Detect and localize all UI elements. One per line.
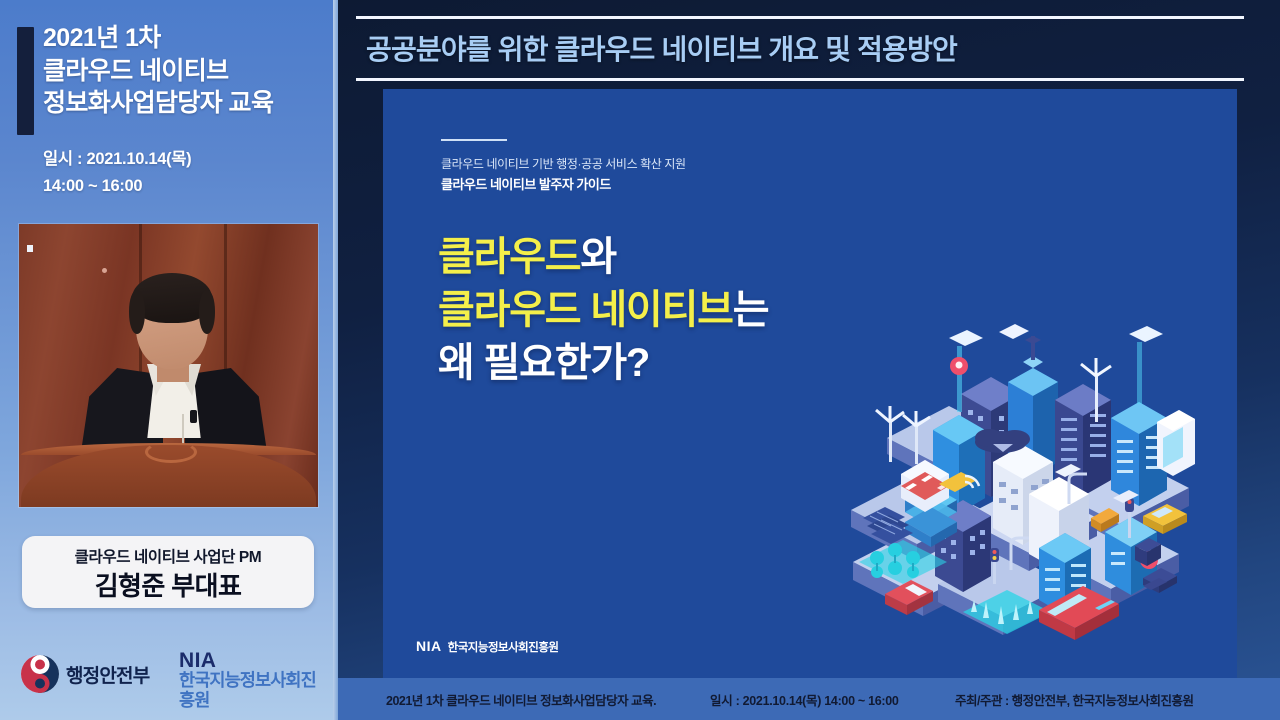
- presenter-hair-side-right: [199, 290, 215, 334]
- nia-label: 한국지능정보사회진흥원: [179, 671, 328, 710]
- headline-line-1-yellow: 클라우드: [438, 235, 580, 279]
- headline-line-1-white: 와: [580, 235, 616, 279]
- slide-stage: 공공분야를 위한 클라우드 네이티브 개요 및 적용방안 클라우드 네이티브 기…: [338, 0, 1280, 720]
- presenter-video[interactable]: [19, 224, 318, 507]
- bottom-bar-datetime: 일시 : 2021.10.14(목) 14:00 ~ 16:00: [710, 690, 899, 709]
- cloud-floating: [999, 324, 1029, 339]
- header-rule-bottom: [356, 78, 1244, 81]
- nia-logo: NIA 한국지능정보사회진흥원: [179, 650, 328, 711]
- event-title-block: 2021년 1차 클라우드 네이티브 정보화사업담당자 교육: [17, 22, 327, 140]
- event-time: 14:00 ~ 16:00: [43, 173, 303, 200]
- phone-kiosk: [1157, 322, 1195, 476]
- presenter-badge: 클라우드 네이티브 사업단 PM 김형준 부대표: [22, 536, 314, 608]
- sponsor-logos: 행정안전부 NIA 한국지능정보사회진흥원: [18, 648, 328, 704]
- headline-line-2-yellow: 클라우드 네이티브: [438, 288, 733, 332]
- podium-scroll-ornament: [145, 441, 197, 463]
- event-datetime: 일시 : 2021.10.14(목) 14:00 ~ 16:00: [43, 146, 303, 199]
- title-accent-bar: [17, 27, 34, 135]
- headline-line-2-white: 는: [733, 288, 769, 332]
- presenter-hair-side-left: [129, 290, 145, 334]
- bottom-bar-event: 2021년 1차 클라우드 네이티브 정보화사업담당자 교육.: [386, 690, 656, 709]
- slide-divider-rule: [441, 139, 507, 141]
- slide-nia-mark: NIA: [416, 638, 442, 654]
- broadcast-screen: 2021년 1차 클라우드 네이티브 정보화사업담당자 교육 일시 : 2021…: [0, 0, 1280, 720]
- bottom-info-bar: 2021년 1차 클라우드 네이티브 정보화사업담당자 교육. 일시 : 202…: [338, 678, 1280, 720]
- taegeuk-icon: [20, 654, 60, 694]
- bottom-bar-organizer: 주최/주관 : 행정안전부, 한국지능정보사회진흥원: [955, 690, 1194, 709]
- headline-line-3-white: 왜 필요한가?: [438, 341, 649, 385]
- presenter-name: 김형준 부대표: [22, 566, 314, 603]
- slide-nia-label: 한국지능정보사회진흥원: [448, 639, 559, 655]
- nia-mark: NIA: [179, 650, 328, 671]
- lapel-microphone: [190, 410, 197, 423]
- isometric-smart-city-illustration: [843, 322, 1237, 652]
- headline-line-1: 클라우드와: [438, 231, 958, 284]
- header-title: 공공분야를 위한 클라우드 네이티브 개요 및 적용방안: [356, 19, 1244, 78]
- presenter-role: 클라우드 네이티브 사업단 PM: [22, 545, 314, 567]
- video-marker-dot: [27, 245, 33, 252]
- presentation-slide[interactable]: 클라우드 네이티브 기반 행정·공공 서비스 확산 지원 클라우드 네이티브 발…: [383, 89, 1237, 678]
- mois-label: 행정안전부: [66, 661, 149, 688]
- tower-navy-striped: [1055, 384, 1111, 496]
- tower-blue-upload-right: [1111, 326, 1167, 506]
- stage-header: 공공분야를 위한 클라우드 네이티브 개요 및 적용방안: [356, 16, 1244, 81]
- event-title-line-2: 클라우드 네이티브: [43, 55, 327, 88]
- video-marker-dot-2: [102, 268, 107, 273]
- left-sidebar: 2021년 1차 클라우드 네이티브 정보화사업담당자 교육 일시 : 2021…: [0, 0, 338, 720]
- event-title-line-1: 2021년 1차: [43, 22, 327, 55]
- slide-subtitle-1: 클라우드 네이티브 기반 행정·공공 서비스 확산 지원: [441, 155, 686, 172]
- event-title-lines: 2021년 1차 클라우드 네이티브 정보화사업담당자 교육: [43, 22, 327, 120]
- slide-subtitle-2: 클라우드 네이티브 발주자 가이드: [441, 174, 611, 193]
- slide-footer-logo: NIA 한국지능정보사회진흥원: [416, 638, 559, 655]
- event-date: 일시 : 2021.10.14(목): [43, 146, 303, 173]
- event-title-line-3: 정보화사업담당자 교육: [43, 87, 327, 120]
